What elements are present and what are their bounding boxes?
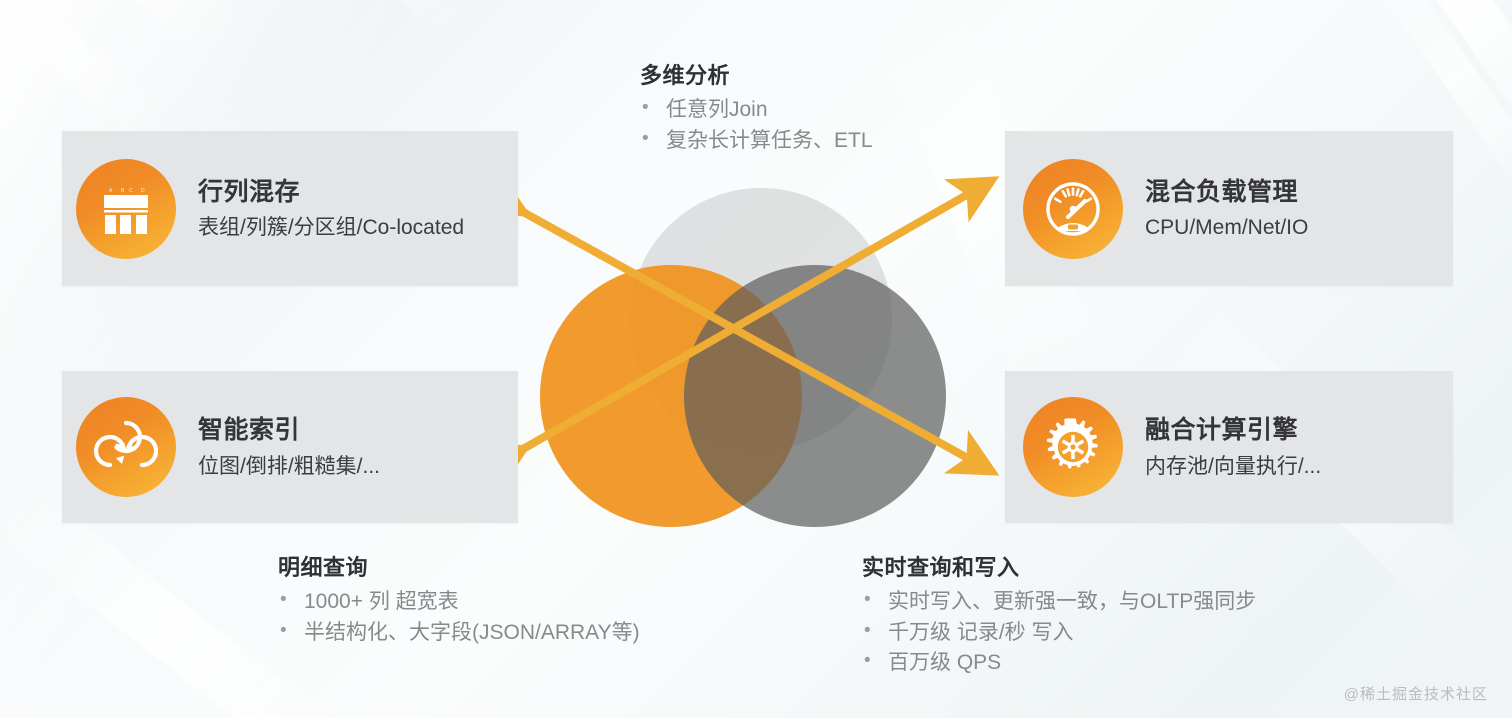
card-smart-index[interactable]: 智能索引 位图/倒排/粗糙集/...: [62, 371, 518, 523]
svg-text:B: B: [121, 188, 125, 194]
card-subtitle: 位图/倒排/粗糙集/...: [198, 454, 380, 479]
list-item: 任意列Join: [640, 95, 873, 126]
three-circle-cycle-icon: [76, 397, 176, 497]
callout-title: 实时查询和写入: [862, 550, 1256, 582]
card-title: 混合负载管理: [1145, 177, 1308, 208]
card-row-column-hybrid-storage[interactable]: A B C D 行列混存 表组/列簇/分区组/Co-located: [62, 131, 518, 286]
card-title: 行列混存: [198, 177, 464, 208]
arrow-bottomleft-topright: [523, 181, 991, 449]
callout-multidimensional-analysis: 多维分析 任意列Join 复杂长计算任务、ETL: [640, 58, 873, 156]
svg-text:D: D: [141, 188, 145, 194]
list-item: 百万级 QPS: [862, 648, 1256, 679]
watermark: @稀土掘金技术社区: [1344, 683, 1488, 704]
gear-icon: [1023, 397, 1123, 497]
table-columns-icon: A B C D: [76, 159, 176, 259]
card-text-block: 混合负载管理 CPU/Mem/Net/IO: [1145, 177, 1308, 240]
card-subtitle: CPU/Mem/Net/IO: [1145, 215, 1308, 240]
card-hybrid-workload-management[interactable]: 混合负载管理 CPU/Mem/Net/IO: [1005, 131, 1453, 286]
list-item: 复杂长计算任务、ETL: [640, 126, 873, 157]
card-text-block: 行列混存 表组/列簇/分区组/Co-located: [198, 177, 464, 240]
callout-title: 多维分析: [640, 58, 873, 90]
card-text-block: 融合计算引擎 内存池/向量执行/...: [1145, 415, 1321, 478]
svg-text:A: A: [109, 188, 113, 194]
card-unified-compute-engine[interactable]: 融合计算引擎 内存池/向量执行/...: [1005, 371, 1453, 523]
callout-title: 明细查询: [278, 550, 640, 582]
list-item: 千万级 记录/秒 写入: [862, 618, 1256, 649]
card-text-block: 智能索引 位图/倒排/粗糙集/...: [198, 415, 380, 478]
callout-list: 1000+ 列 超宽表 半结构化、大字段(JSON/ARRAY等): [278, 587, 640, 648]
card-title: 智能索引: [198, 415, 380, 446]
card-subtitle: 内存池/向量执行/...: [1145, 454, 1321, 479]
card-title: 融合计算引擎: [1145, 415, 1321, 446]
callout-detail-query: 明细查询 1000+ 列 超宽表 半结构化、大字段(JSON/ARRAY等): [278, 550, 640, 648]
list-item: 实时写入、更新强一致，与OLTP强同步: [862, 587, 1256, 618]
gauge-icon: [1023, 159, 1123, 259]
arrow-topleft-bottomright: [523, 212, 991, 471]
card-subtitle: 表组/列簇/分区组/Co-located: [198, 215, 464, 240]
svg-text:C: C: [129, 188, 133, 194]
list-item: 半结构化、大字段(JSON/ARRAY等): [278, 618, 640, 649]
callout-list: 任意列Join 复杂长计算任务、ETL: [640, 95, 873, 156]
callout-list: 实时写入、更新强一致，与OLTP强同步 千万级 记录/秒 写入 百万级 QPS: [862, 587, 1256, 679]
diagram-canvas: A B C D 行列混存 表组/列簇/分区组/Co-located: [0, 0, 1512, 718]
callout-realtime-query-write: 实时查询和写入 实时写入、更新强一致，与OLTP强同步 千万级 记录/秒 写入 …: [862, 550, 1256, 679]
list-item: 1000+ 列 超宽表: [278, 587, 640, 618]
